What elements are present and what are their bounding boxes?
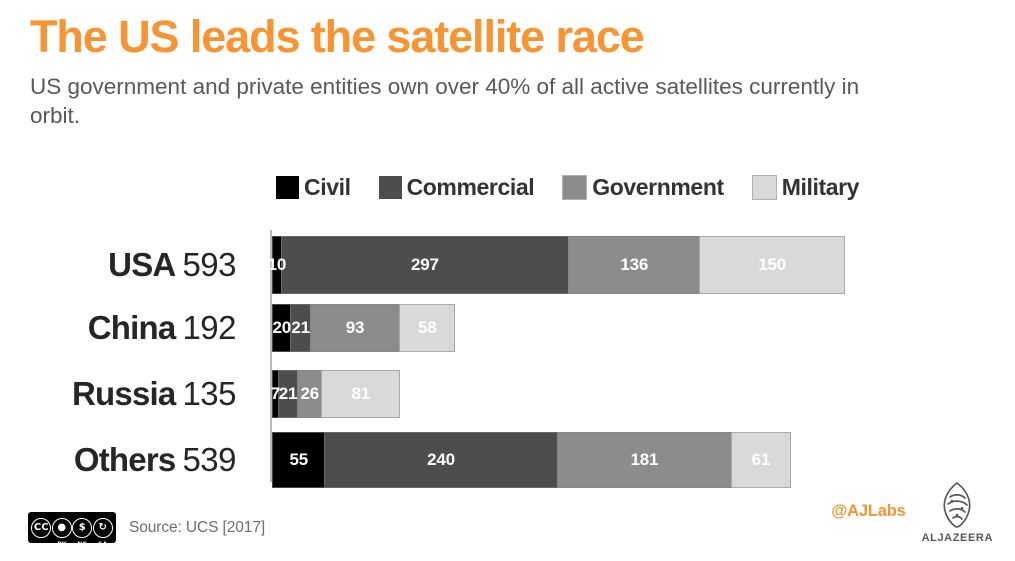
bar-segment-commercial[interactable]: 297 (281, 236, 569, 294)
stacked-bar: 10297136150 (272, 236, 845, 294)
bar-segment-value: 21 (279, 384, 298, 404)
stacked-bar: 7212681 (272, 370, 400, 418)
legend-item-government[interactable]: Government (562, 174, 723, 201)
bar-segment-value: 297 (411, 255, 439, 275)
footer-right: @AJLabs ALJAZEERA (831, 480, 993, 544)
bar-segment-value: 136 (620, 255, 648, 275)
bar-row: China19220219358 (0, 304, 1015, 352)
cc-sa-share-alike-icon: ↻ SA (93, 518, 113, 538)
country-name: Others (74, 441, 176, 478)
legend-label: Commercial (407, 174, 535, 201)
bar-segment-government[interactable]: 26 (297, 370, 322, 418)
footer-left: CC ● BY $ NC ↻ SA Source: UCS [2017] (28, 512, 265, 543)
bar-segment-value: 81 (352, 384, 371, 404)
bar-row-label: Others539 (74, 443, 236, 476)
legend-swatch-commercial-icon (379, 176, 402, 199)
legend-label: Military (782, 174, 859, 201)
legend-swatch-government-icon (562, 175, 587, 200)
bar-row: Russia1357212681 (0, 370, 1015, 418)
country-name: USA (108, 246, 175, 283)
bar-segment-value: 26 (301, 384, 320, 404)
bar-segment-value: 61 (752, 450, 771, 470)
bar-row-label: China192 (88, 311, 236, 344)
country-name: Russia (72, 375, 175, 412)
chart-header: The US leads the satellite race US gover… (30, 14, 980, 130)
cc-nc-label: NC (77, 542, 87, 548)
bar-row-label: USA593 (108, 248, 236, 281)
bar-segment-value: 93 (346, 318, 365, 338)
legend-swatch-civil-icon (276, 176, 299, 199)
chart-legend: CivilCommercialGovernmentMilitary (276, 174, 859, 201)
legend-swatch-military-icon (752, 175, 777, 200)
aljazeera-calligraphy-logo-icon (933, 480, 981, 530)
stacked-bar-chart: USA59310297136150China19220219358Russia1… (0, 214, 1015, 494)
bar-segment-value: 58 (418, 318, 437, 338)
country-total: 135 (182, 375, 236, 412)
country-total: 539 (182, 441, 236, 478)
legend-item-civil[interactable]: Civil (276, 174, 351, 201)
bar-segment-value: 240 (427, 450, 455, 470)
bar-segment-civil[interactable]: 20 (272, 304, 291, 352)
stacked-bar: 5524018161 (272, 432, 791, 488)
bar-segment-military[interactable]: 61 (731, 432, 790, 488)
bar-segment-government[interactable]: 93 (310, 304, 400, 352)
bar-segment-government[interactable]: 181 (557, 432, 733, 488)
bar-segment-government[interactable]: 136 (568, 236, 700, 294)
bar-segment-military[interactable]: 81 (321, 370, 400, 418)
legend-item-military[interactable]: Military (752, 174, 859, 201)
creative-commons-by-nc-sa-icon: CC ● BY $ NC ↻ SA (28, 512, 116, 543)
bar-segment-commercial[interactable]: 240 (324, 432, 557, 488)
bar-segment-military[interactable]: 58 (399, 304, 455, 352)
bar-segment-commercial[interactable]: 21 (290, 304, 310, 352)
cc-sa-label: SA (98, 542, 107, 548)
bar-segment-value: 10 (268, 255, 287, 275)
page-title: The US leads the satellite race (30, 14, 980, 61)
ajlabs-handle: @AJLabs (831, 502, 905, 523)
country-total: 192 (182, 309, 236, 346)
cc-nc-dollar-slash-icon: $ NC (72, 518, 92, 538)
bar-segment-value: 55 (289, 450, 308, 470)
country-total: 593 (182, 246, 236, 283)
bar-segment-civil[interactable]: 55 (272, 432, 325, 488)
chart-subtitle: US government and private entities own o… (30, 73, 910, 131)
legend-label: Civil (304, 174, 351, 201)
bar-segment-value: 20 (272, 318, 291, 338)
legend-label: Government (592, 174, 723, 201)
country-name: China (88, 309, 176, 346)
cc-icon: CC (31, 518, 51, 538)
cc-by-label: BY (57, 542, 66, 548)
bar-row-label: Russia135 (72, 377, 236, 410)
bar-segment-value: 150 (758, 255, 786, 275)
aljazeera-wordmark: ALJAZEERA (922, 532, 993, 544)
bar-row: USA59310297136150 (0, 236, 1015, 294)
aljazeera-logo: ALJAZEERA (922, 480, 993, 544)
source-attribution: Source: UCS [2017] (129, 519, 265, 537)
bar-segment-value: 181 (631, 450, 659, 470)
legend-item-commercial[interactable]: Commercial (379, 174, 535, 201)
bar-segment-commercial[interactable]: 21 (278, 370, 298, 418)
bar-segment-value: 21 (291, 318, 310, 338)
cc-by-person-icon: ● BY (52, 518, 72, 538)
bar-segment-military[interactable]: 150 (699, 236, 845, 294)
stacked-bar: 20219358 (272, 304, 455, 352)
